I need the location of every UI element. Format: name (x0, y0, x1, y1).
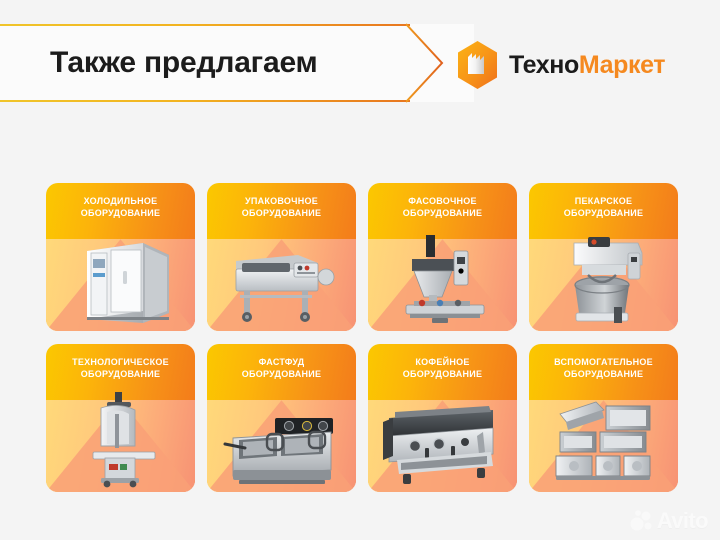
band-saw-icon (46, 390, 195, 488)
category-title-line-2: ОБОРУДОВАНИЕ (213, 207, 350, 219)
category-title-line-1: ВСПОМОГАТЕЛЬНОЕ (535, 356, 672, 368)
filling-machine-icon (368, 229, 517, 327)
brand-wordmark: ТехноМаркет (509, 53, 665, 78)
category-title-line-2: ОБОРУДОВАНИЕ (535, 368, 672, 380)
category-card-title: КОФЕЙНОЕОБОРУДОВАНИЕ (374, 356, 511, 381)
cold-room-icon (46, 229, 195, 327)
category-card[interactable]: ФАСОВОЧНОЕОБОРУДОВАНИЕ (368, 183, 517, 331)
category-card-grid: ХОЛОДИЛЬНОЕОБОРУДОВАНИЕ УПАКОВОЧНОЕОБОРУ… (46, 183, 678, 492)
category-card-title: ВСПОМОГАТЕЛЬНОЕОБОРУДОВАНИЕ (535, 356, 672, 381)
avito-watermark-text: Avito (657, 510, 708, 532)
category-title-line-2: ОБОРУДОВАНИЕ (374, 368, 511, 380)
category-title-line-2: ОБОРУДОВАНИЕ (213, 368, 350, 380)
banner-bottom-rule (0, 100, 410, 102)
category-card[interactable]: ВСПОМОГАТЕЛЬНОЕОБОРУДОВАНИЕ (529, 344, 678, 492)
header-banner: Также предлагаем (0, 24, 474, 102)
page-title: Также предлагаем (50, 46, 318, 80)
category-card[interactable]: ХОЛОДИЛЬНОЕОБОРУДОВАНИЕ (46, 183, 195, 331)
category-title-line-2: ОБОРУДОВАНИЕ (374, 207, 511, 219)
avito-watermark: Avito (630, 510, 708, 532)
category-title-line-1: УПАКОВОЧНОЕ (213, 195, 350, 207)
category-title-line-1: ПЕКАРСКОЕ (535, 195, 672, 207)
category-title-line-1: КОФЕЙНОЕ (374, 356, 511, 368)
banner-top-rule (0, 24, 410, 26)
avito-dots-icon (630, 510, 654, 532)
category-title-line-2: ОБОРУДОВАНИЕ (52, 368, 189, 380)
hexagon-factory-icon (455, 40, 500, 90)
dough-mixer-icon (529, 229, 678, 327)
packaging-machine-icon (207, 229, 356, 327)
brand-name-primary: Техно (509, 51, 579, 79)
category-card-title: ФАСОВОЧНОЕОБОРУДОВАНИЕ (374, 195, 511, 220)
category-title-line-1: ФАСТФУД (213, 356, 350, 368)
category-card[interactable]: КОФЕЙНОЕОБОРУДОВАНИЕ (368, 344, 517, 492)
espresso-machine-icon (368, 390, 517, 488)
category-card[interactable]: ПЕКАРСКОЕОБОРУДОВАНИЕ (529, 183, 678, 331)
category-title-line-1: ХОЛОДИЛЬНОЕ (52, 195, 189, 207)
category-title-line-1: ФАСОВОЧНОЕ (374, 195, 511, 207)
category-title-line-1: ТЕХНОЛОГИЧЕСКОЕ (52, 356, 189, 368)
brand-name-secondary: Маркет (579, 51, 665, 79)
category-card-title: УПАКОВОЧНОЕОБОРУДОВАНИЕ (213, 195, 350, 220)
category-card-title: ПЕКАРСКОЕОБОРУДОВАНИЕ (535, 195, 672, 220)
category-title-line-2: ОБОРУДОВАНИЕ (52, 207, 189, 219)
category-title-line-2: ОБОРУДОВАНИЕ (535, 207, 672, 219)
category-card-title: ТЕХНОЛОГИЧЕСКОЕОБОРУДОВАНИЕ (52, 356, 189, 381)
category-card-title: ФАСТФУДОБОРУДОВАНИЕ (213, 356, 350, 381)
category-card[interactable]: ТЕХНОЛОГИЧЕСКОЕОБОРУДОВАНИЕ (46, 344, 195, 492)
category-card[interactable]: ФАСТФУДОБОРУДОВАНИЕ (207, 344, 356, 492)
gastronorm-pans-icon (529, 390, 678, 488)
deep-fryer-icon (207, 390, 356, 488)
category-card[interactable]: УПАКОВОЧНОЕОБОРУДОВАНИЕ (207, 183, 356, 331)
category-card-title: ХОЛОДИЛЬНОЕОБОРУДОВАНИЕ (52, 195, 189, 220)
brand-logo: ТехноМаркет (455, 40, 665, 90)
